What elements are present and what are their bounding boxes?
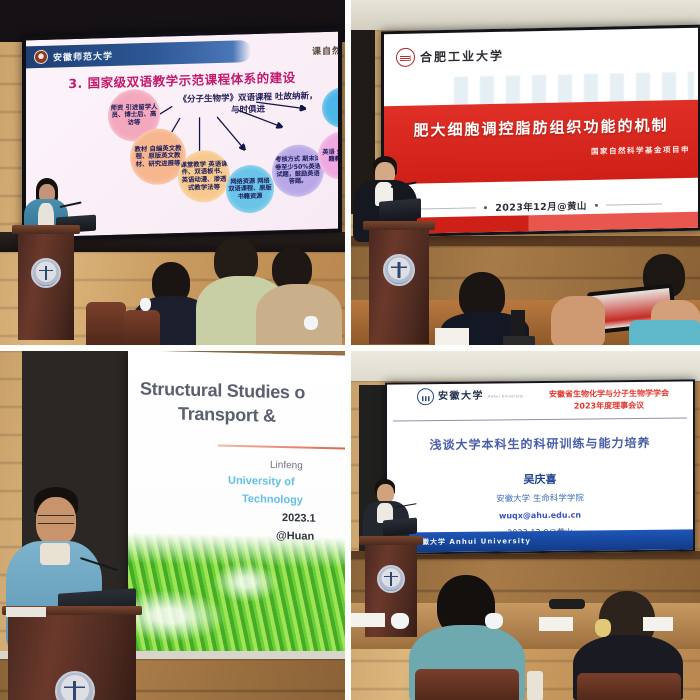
photo-bottom-right[interactable]: 安徽大学 Anhui University 安徽省生物化学与分子生物学学会 20…: [351, 351, 700, 700]
slide3-divider: [218, 444, 345, 450]
slide2-date: 2023年12月@黄山: [495, 198, 587, 214]
podium-emblem-icon-4: [377, 565, 405, 593]
teacup: [595, 619, 611, 637]
slide1-arrows: [26, 32, 338, 241]
bullet-dot: [595, 203, 598, 206]
slide4-university-en: Anhui University: [488, 394, 524, 398]
photo-top-right[interactable]: 合肥工业大学 肥大细胞调控脂肪组织功能的机制 国家自然科学基金项目申 2023年…: [351, 0, 700, 345]
name-card: [539, 617, 573, 631]
cup: [140, 298, 151, 311]
name-card: [435, 328, 469, 345]
bullet-dot: [484, 206, 487, 209]
slide3-title-line2: Transport &: [178, 402, 345, 431]
slide3-grass-image: [128, 532, 345, 656]
projection-screen-4: 安徽大学 Anhui University 安徽省生物化学与分子生物学学会 20…: [385, 379, 695, 554]
podium-emblem-icon-2: [383, 254, 415, 286]
cup: [304, 316, 318, 330]
slide4-org-line1: 安徽省生物化学与分子生物学学会: [549, 388, 669, 401]
name-card: [351, 613, 385, 627]
slide4-footer-band: 安徽大学 Anhui University: [387, 529, 693, 552]
slide3-title: Structural Studies o Transport &: [140, 377, 345, 432]
projection-screen-3: Structural Studies o Transport & Linfeng…: [128, 351, 345, 656]
slide4-organization: 安徽省生物化学与分子生物学学会 2023年度理事会议: [549, 388, 669, 412]
slide4-title: 浅谈大学本科生的科研训练与能力培养: [387, 433, 693, 453]
ahu-logo: 安徽大学 Anhui University: [417, 387, 524, 405]
chair-back: [577, 673, 681, 700]
photo-collage: 安徽师范大学 课自然 3. 国家级双语教学示范课程体系的建设 《分子生物学》双语…: [0, 0, 700, 700]
audience-shoulder: [629, 320, 700, 345]
teacup: [485, 613, 503, 629]
photo-top-left[interactable]: 安徽师范大学 课自然 3. 国家级双语教学示范课程体系的建设 《分子生物学》双语…: [0, 0, 345, 345]
slide2-subtitle: 国家自然科学基金项目申: [591, 144, 690, 157]
hfut-seal-icon: [396, 48, 415, 67]
hand: [551, 296, 605, 345]
podium-emblem-icon-3: [55, 671, 95, 700]
slide4-speaker-email[interactable]: wuqx@ahu.edu.cn: [387, 509, 693, 525]
ahu-seal-icon: [417, 388, 434, 405]
water-bottle: [527, 671, 543, 700]
chair-back: [415, 669, 519, 700]
podium-emblem-icon-1: [31, 258, 61, 288]
slide2-red-band: 肥大细胞调控脂肪组织功能的机制 国家自然科学基金项目申: [384, 100, 698, 185]
slide4-university-name: 安徽大学: [438, 391, 484, 401]
slide4-org-line2: 2023年度理事会议: [549, 399, 669, 412]
paper-sheet: [6, 607, 46, 617]
chair-back: [86, 302, 126, 345]
podium-3: [8, 613, 136, 700]
podium-1: [18, 232, 74, 340]
table-microphone: [549, 599, 585, 609]
slide4-speaker-name: 吴庆喜: [387, 469, 693, 490]
laptop-4: [383, 518, 417, 537]
hfut-logo: 合肥工业大学: [396, 46, 504, 67]
microphone-base: [503, 336, 535, 345]
slide4-divider: [393, 417, 687, 421]
audience-shoulder: [256, 284, 342, 345]
laptop-2: [379, 198, 421, 222]
projection-screen-1: 安徽师范大学 课自然 3. 国家级双语教学示范课程体系的建设 《分子生物学》双语…: [22, 28, 342, 242]
slide2-university-name: 合肥工业大学: [420, 47, 504, 66]
divider-right: [606, 203, 662, 205]
name-card: [643, 617, 673, 631]
collar: [40, 543, 70, 565]
glasses-icon: [38, 515, 74, 524]
divider-left: [420, 207, 476, 209]
slide4-footer-text: 安徽大学 Anhui University: [414, 536, 531, 547]
slide3-title-line1: Structural Studies o: [140, 379, 305, 403]
teacup: [391, 613, 409, 629]
photo-bottom-left[interactable]: Structural Studies o Transport & Linfeng…: [0, 351, 345, 700]
slide2-title: 肥大细胞调控脂肪组织功能的机制: [384, 114, 698, 142]
projection-screen-2: 合肥工业大学 肥大细胞调控脂肪组织功能的机制 国家自然科学基金项目申 2023年…: [381, 25, 700, 238]
podium-2: [369, 228, 429, 344]
chair-back: [124, 310, 160, 345]
slide4-speaker-affiliation: 安徽大学 生命科学学院: [387, 491, 693, 508]
